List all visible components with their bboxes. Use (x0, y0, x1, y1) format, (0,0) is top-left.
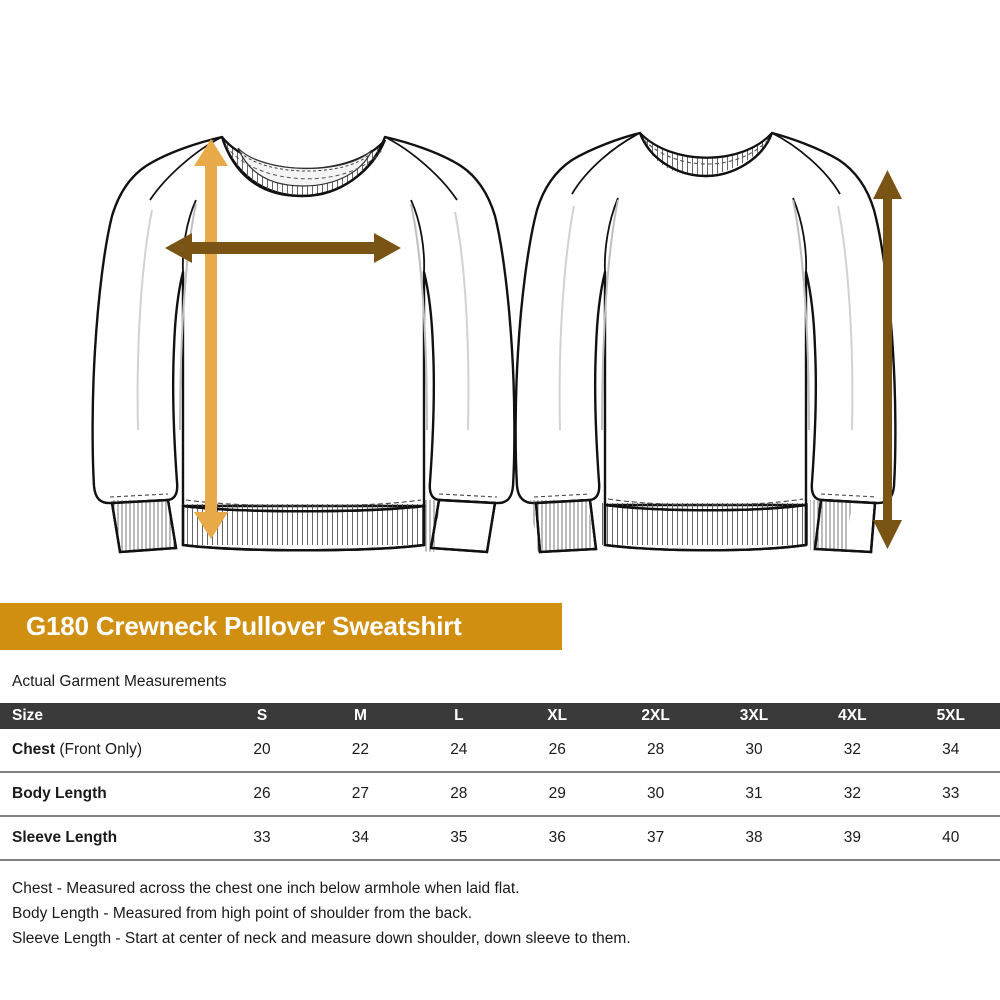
note-sleeve-length: Sleeve Length - Start at center of neck … (12, 926, 631, 951)
cell-chest-s: 20 (213, 729, 311, 772)
cell-body-length-5xl: 33 (902, 772, 1000, 816)
cell-sleeve-length-5xl: 40 (902, 816, 1000, 860)
column-header-4xl: 4XL (803, 703, 901, 729)
page-title: G180 Crewneck Pullover Sweatshirt (26, 611, 462, 642)
row-label-body-length: Body Length (0, 772, 213, 816)
table-header: Size S M L XL 2XL 3XL 4XL 5XL (0, 703, 1000, 729)
cell-sleeve-length-s: 33 (213, 816, 311, 860)
table-header-row: Size S M L XL 2XL 3XL 4XL 5XL (0, 703, 1000, 729)
cell-chest-m: 22 (311, 729, 409, 772)
cell-chest-l: 24 (410, 729, 508, 772)
column-header-s: S (213, 703, 311, 729)
cell-chest-2xl: 28 (606, 729, 704, 772)
column-header-m: M (311, 703, 409, 729)
cell-chest-4xl: 32 (803, 729, 901, 772)
front-view-sweatshirt (93, 130, 515, 556)
column-header-2xl: 2XL (606, 703, 704, 729)
cell-body-length-4xl: 32 (803, 772, 901, 816)
table-row: Chest (Front Only) 20 22 24 26 28 30 32 … (0, 729, 1000, 772)
cell-chest-3xl: 30 (705, 729, 803, 772)
column-header-xl: XL (508, 703, 606, 729)
back-view-sweatshirt (516, 126, 896, 556)
cell-body-length-3xl: 31 (705, 772, 803, 816)
cell-body-length-s: 26 (213, 772, 311, 816)
table-row: Sleeve Length 33 34 35 36 37 38 39 40 (0, 816, 1000, 860)
size-table: Size S M L XL 2XL 3XL 4XL 5XL Chest (Fro… (0, 703, 1000, 861)
table-row: Body Length 26 27 28 29 30 31 32 33 (0, 772, 1000, 816)
cell-sleeve-length-l: 35 (410, 816, 508, 860)
row-label-chest: Chest (Front Only) (0, 729, 213, 772)
row-label-sleeve-length-bold: Sleeve Length (12, 829, 117, 846)
size-table-wrapper: Size S M L XL 2XL 3XL 4XL 5XL Chest (Fro… (0, 703, 1000, 861)
cell-body-length-2xl: 30 (606, 772, 704, 816)
table-body: Chest (Front Only) 20 22 24 26 28 30 32 … (0, 729, 1000, 860)
column-header-size: Size (0, 703, 213, 729)
row-label-body-length-bold: Body Length (12, 785, 107, 802)
cell-sleeve-length-m: 34 (311, 816, 409, 860)
cell-chest-5xl: 34 (902, 729, 1000, 772)
measurement-notes: Chest - Measured across the chest one in… (12, 876, 631, 951)
note-chest: Chest - Measured across the chest one in… (12, 876, 631, 901)
column-header-3xl: 3XL (705, 703, 803, 729)
row-label-chest-note: (Front Only) (55, 741, 142, 758)
note-body-length: Body Length - Measured from high point o… (12, 901, 631, 926)
cell-body-length-xl: 29 (508, 772, 606, 816)
cell-chest-xl: 26 (508, 729, 606, 772)
column-header-5xl: 5XL (902, 703, 1000, 729)
title-banner: G180 Crewneck Pullover Sweatshirt (0, 603, 562, 650)
row-label-sleeve-length: Sleeve Length (0, 816, 213, 860)
cell-sleeve-length-2xl: 37 (606, 816, 704, 860)
measurements-subtitle: Actual Garment Measurements (12, 673, 227, 691)
garment-illustrations (0, 0, 1000, 580)
cell-body-length-l: 28 (410, 772, 508, 816)
column-header-l: L (410, 703, 508, 729)
cell-body-length-m: 27 (311, 772, 409, 816)
row-label-chest-bold: Chest (12, 741, 55, 758)
cell-sleeve-length-xl: 36 (508, 816, 606, 860)
cell-sleeve-length-4xl: 39 (803, 816, 901, 860)
cell-sleeve-length-3xl: 38 (705, 816, 803, 860)
